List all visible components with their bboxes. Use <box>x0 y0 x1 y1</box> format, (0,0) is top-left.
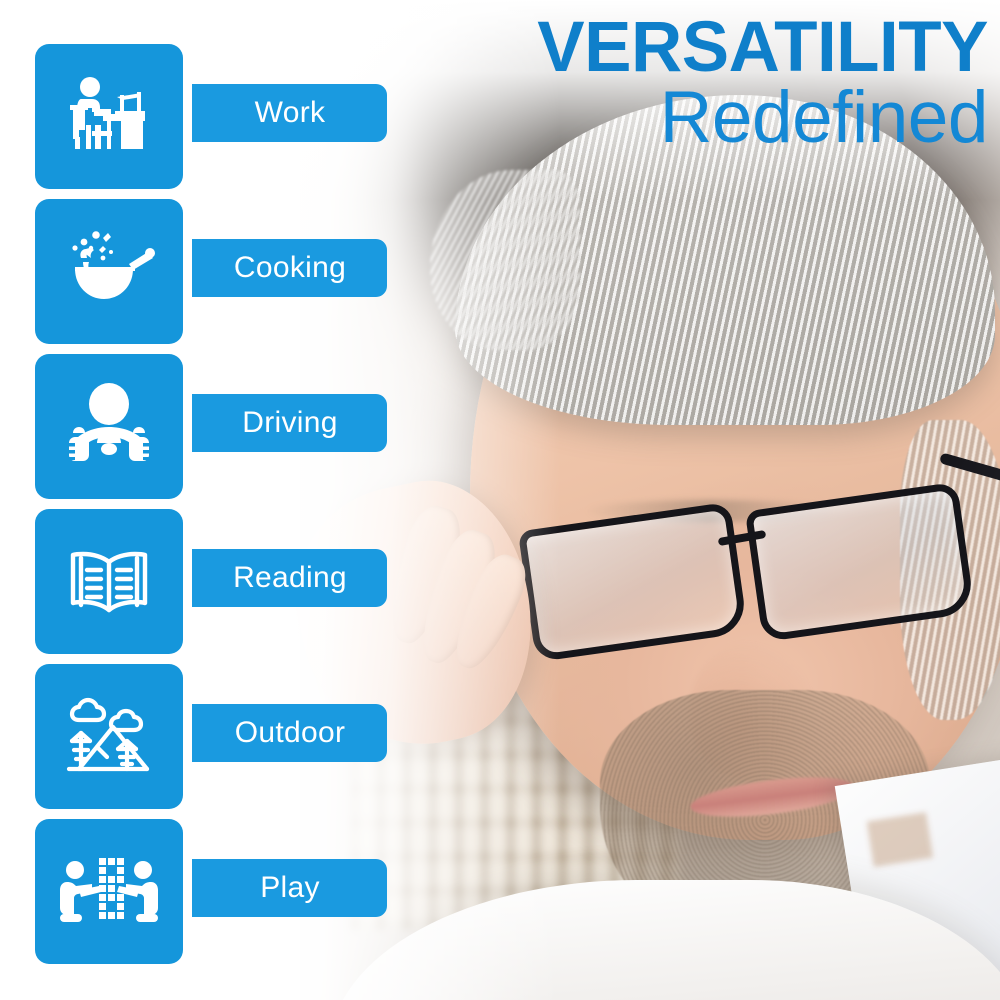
feature-label-pill-work: Work <box>187 84 387 142</box>
feature-label-pill-outdoor: Outdoor <box>187 704 387 762</box>
feature-icon-tile-work <box>35 44 183 189</box>
headline-line-2: Redefined <box>537 83 988 153</box>
feature-label-text: Cooking <box>228 251 346 285</box>
feature-icon-tile-cooking <box>35 199 183 344</box>
product-feature-poster: VERSATILITY Redefined <box>0 0 1000 1000</box>
headline-line-1: VERSATILITY <box>537 14 988 82</box>
wok-pan-tossing-food-icon <box>59 222 159 322</box>
feature-label-text: Reading <box>227 561 347 595</box>
feature-label-text: Play <box>254 871 320 905</box>
feature-icon-tile-reading <box>35 509 183 654</box>
page-title: VERSATILITY Redefined <box>537 14 988 153</box>
feature-label-pill-cooking: Cooking <box>187 239 387 297</box>
feature-label-pill-driving: Driving <box>187 394 387 452</box>
feature-icon-tile-driving <box>35 354 183 499</box>
feature-label-pill-reading: Reading <box>187 549 387 607</box>
driver-at-steering-wheel-icon <box>59 377 159 477</box>
mountains-clouds-trees-icon <box>59 687 159 787</box>
photo-eyeglasses <box>508 470 998 645</box>
eyeglass-lens-right <box>745 482 975 642</box>
feature-label-text: Outdoor <box>229 716 346 750</box>
feature-icon-tile-outdoor <box>35 664 183 809</box>
feature-label-text: Driving <box>236 406 337 440</box>
feature-label-text: Work <box>249 96 326 130</box>
feature-icon-tile-play <box>35 819 183 964</box>
open-book-icon <box>59 532 159 632</box>
person-at-desk-with-laptop-icon <box>59 67 159 167</box>
two-people-stacking-blocks-icon <box>59 842 159 942</box>
feature-label-pill-play: Play <box>187 859 387 917</box>
